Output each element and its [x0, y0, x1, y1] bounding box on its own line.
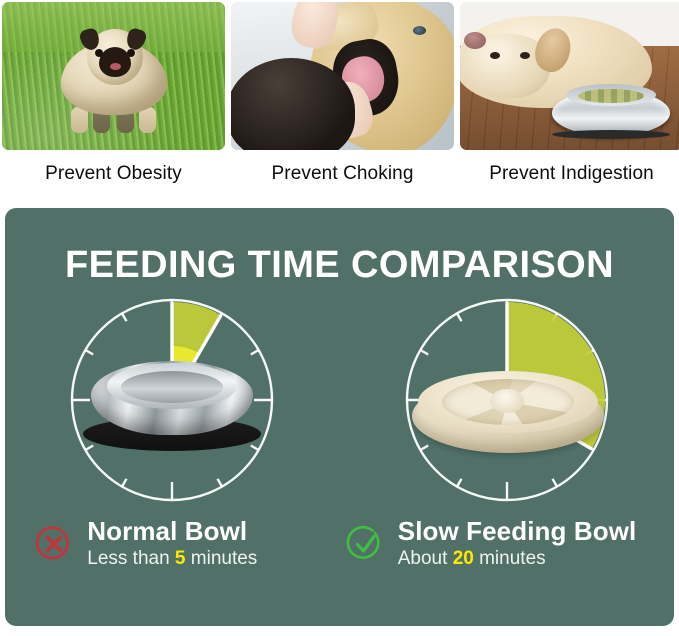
legend-item-slow-feeding-bowl: Slow Feeding Bowl About 20 minutes	[345, 517, 645, 572]
stainless-steel-bowl-illustration	[83, 361, 261, 451]
legend-title-normal-bowl: Normal Bowl	[87, 517, 257, 546]
feeding-time-comparison-panel: FEEDING TIME COMPARISON	[5, 208, 674, 626]
legend-sub-suffix: minutes	[474, 548, 546, 569]
benefit-caption-obesity: Prevent Obesity	[45, 163, 182, 185]
circle-check-icon	[345, 524, 385, 564]
benefit-card-obesity: Prevent Obesity	[2, 2, 225, 185]
labrador-lying-beside-bowl-photo	[460, 2, 679, 150]
circle-x-icon	[34, 524, 74, 564]
legend-sub-value: 5	[175, 548, 186, 569]
benefit-caption-indigestion: Prevent Indigestion	[489, 163, 654, 185]
benefits-photo-strip: Prevent Obesity Prevent Choking	[0, 0, 679, 185]
legend-sub-prefix: Less than	[87, 548, 175, 569]
vet-checking-dog-mouth-photo	[231, 2, 454, 150]
wood-floor-background	[460, 2, 679, 150]
gauge-slow-feeding-bowl	[396, 289, 618, 511]
legend-sub-value: 20	[453, 548, 474, 569]
clinic-background	[231, 2, 454, 150]
benefit-card-indigestion: Prevent Indigestion	[460, 2, 679, 185]
benefit-caption-choking: Prevent Choking	[272, 163, 414, 185]
legend-sub-prefix: About	[398, 548, 453, 569]
benefit-card-choking: Prevent Choking	[231, 2, 454, 185]
panel-title: FEEDING TIME COMPARISON	[5, 244, 674, 287]
pug-illustration	[55, 27, 173, 131]
legend-sub-slow-feeding-bowl: About 20 minutes	[398, 547, 637, 572]
overweight-pug-on-grass-photo	[2, 2, 225, 150]
legend-item-normal-bowl: Normal Bowl Less than 5 minutes	[34, 517, 334, 572]
gauge-normal-bowl	[61, 289, 283, 511]
legend-sub-normal-bowl: Less than 5 minutes	[87, 547, 257, 572]
gauge-row	[5, 289, 674, 511]
legend-title-slow-feeding-bowl: Slow Feeding Bowl	[398, 517, 637, 546]
steel-bowl-illustration	[552, 90, 670, 136]
legend-sub-suffix: minutes	[186, 548, 258, 569]
slow-feeder-bowl-illustration	[412, 371, 604, 459]
comparison-legend: Normal Bowl Less than 5 minutes Slow Fee…	[5, 517, 674, 572]
labrador-nose	[464, 32, 486, 49]
